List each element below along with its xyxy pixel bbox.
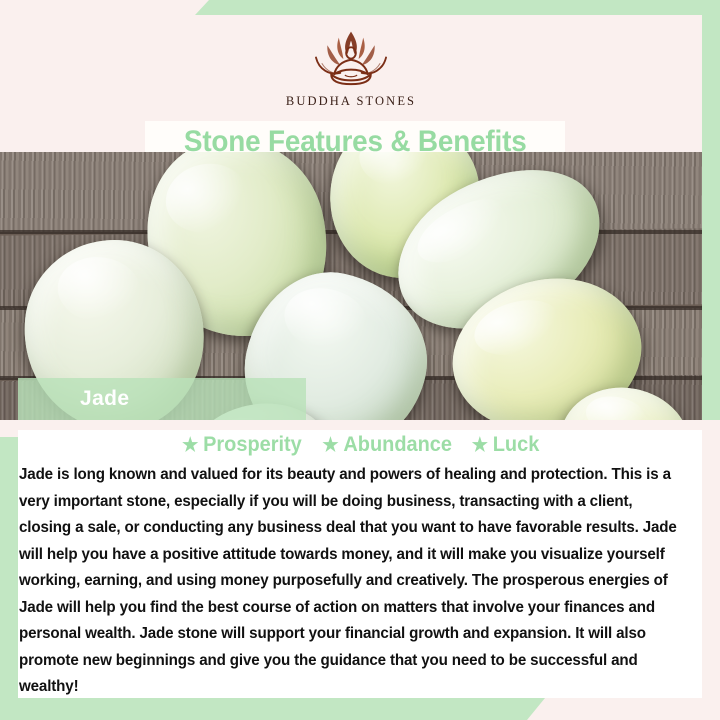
- description-text: Jade is long known and valued for its be…: [19, 462, 682, 701]
- star-icon: ★: [323, 436, 339, 455]
- lotus-meditation-icon: [305, 27, 397, 91]
- benefits-row: ★ Prosperity ★ Abundance ★ Luck: [18, 430, 702, 460]
- brand-logo: BUDDHA STONES: [0, 27, 702, 109]
- benefit-label: Prosperity: [203, 433, 302, 457]
- header: BUDDHA STONES Stone Features & Benefits: [0, 15, 702, 161]
- stone-name-label: Jade: [80, 387, 129, 411]
- benefit-item-abundance: ★ Abundance: [323, 433, 453, 457]
- description-card: Jade is long known and valued for its be…: [18, 460, 702, 698]
- benefit-label: Luck: [492, 433, 539, 457]
- decorative-right-strip: [702, 15, 720, 420]
- decorative-top-band: [195, 0, 720, 15]
- benefit-item-prosperity: ★ Prosperity: [182, 433, 302, 457]
- benefit-item-luck: ★ Luck: [471, 433, 539, 457]
- star-icon: ★: [182, 436, 198, 455]
- brand-wordmark: BUDDHA STONES: [286, 94, 416, 109]
- hero-photo-container: Jade: [0, 152, 702, 420]
- benefit-label: Abundance: [344, 433, 453, 457]
- decorative-bottom-band: [0, 698, 545, 720]
- stone-name-band: Jade: [18, 378, 306, 420]
- star-icon: ★: [471, 436, 487, 455]
